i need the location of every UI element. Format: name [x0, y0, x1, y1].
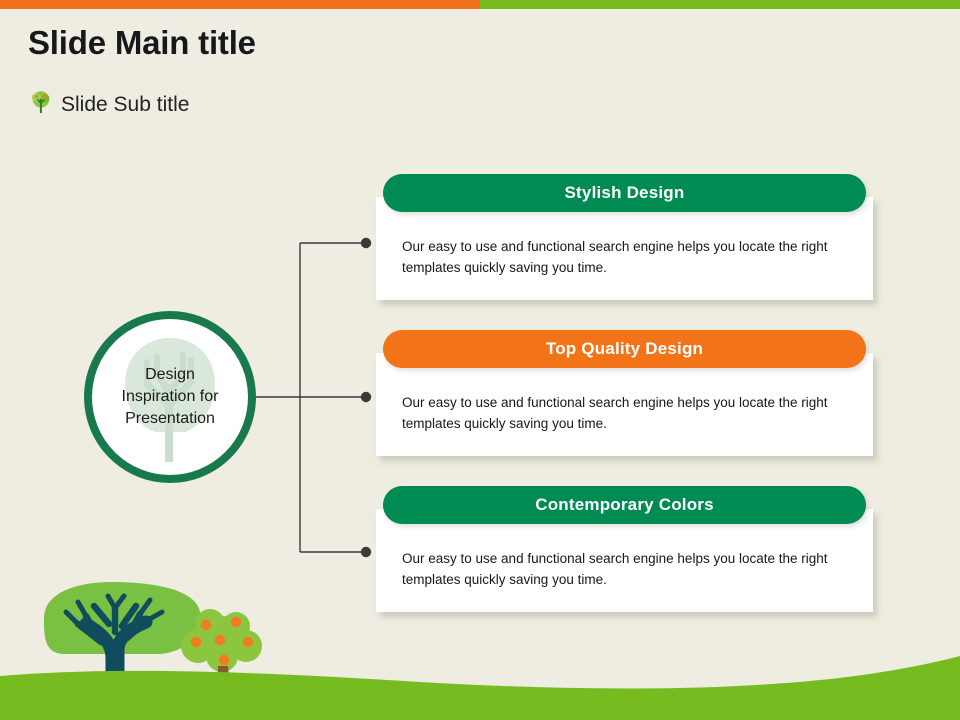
- hub-label: Design Inspiration for Presentation: [92, 364, 248, 430]
- card-2-header[interactable]: Top Quality Design: [383, 330, 866, 368]
- top-bar-orange-segment: [0, 0, 480, 9]
- page-title: Slide Main title: [28, 24, 256, 62]
- slide-canvas: Slide Main title Slide Sub title: [0, 0, 960, 720]
- card-2-body: Our easy to use and functional search en…: [376, 353, 873, 456]
- tree-icon: [30, 90, 52, 119]
- hub-label-line-3: Presentation: [92, 408, 248, 430]
- card-1-text: Our easy to use and functional search en…: [376, 197, 873, 300]
- connector-dot: [361, 238, 371, 248]
- connector-dot: [361, 547, 371, 557]
- hill: [0, 656, 960, 720]
- page-subtitle: Slide Sub title: [61, 93, 189, 117]
- card-2-text: Our easy to use and functional search en…: [376, 353, 873, 456]
- card-1-body: Our easy to use and functional search en…: [376, 197, 873, 300]
- top-accent-bar: [0, 0, 960, 9]
- hub-ring: Design Inspiration for Presentation: [84, 311, 256, 483]
- scenery-illustration: [0, 580, 960, 720]
- card-3-header[interactable]: Contemporary Colors: [383, 486, 866, 524]
- card-1-header[interactable]: Stylish Design: [383, 174, 866, 212]
- subtitle-row: Slide Sub title: [30, 90, 189, 119]
- top-bar-green-segment: [480, 0, 960, 9]
- connector-dot: [361, 392, 371, 402]
- hub-label-line-2: Inspiration for: [92, 386, 248, 408]
- hub-label-line-1: Design: [92, 364, 248, 386]
- hub-node[interactable]: Design Inspiration for Presentation: [84, 311, 256, 483]
